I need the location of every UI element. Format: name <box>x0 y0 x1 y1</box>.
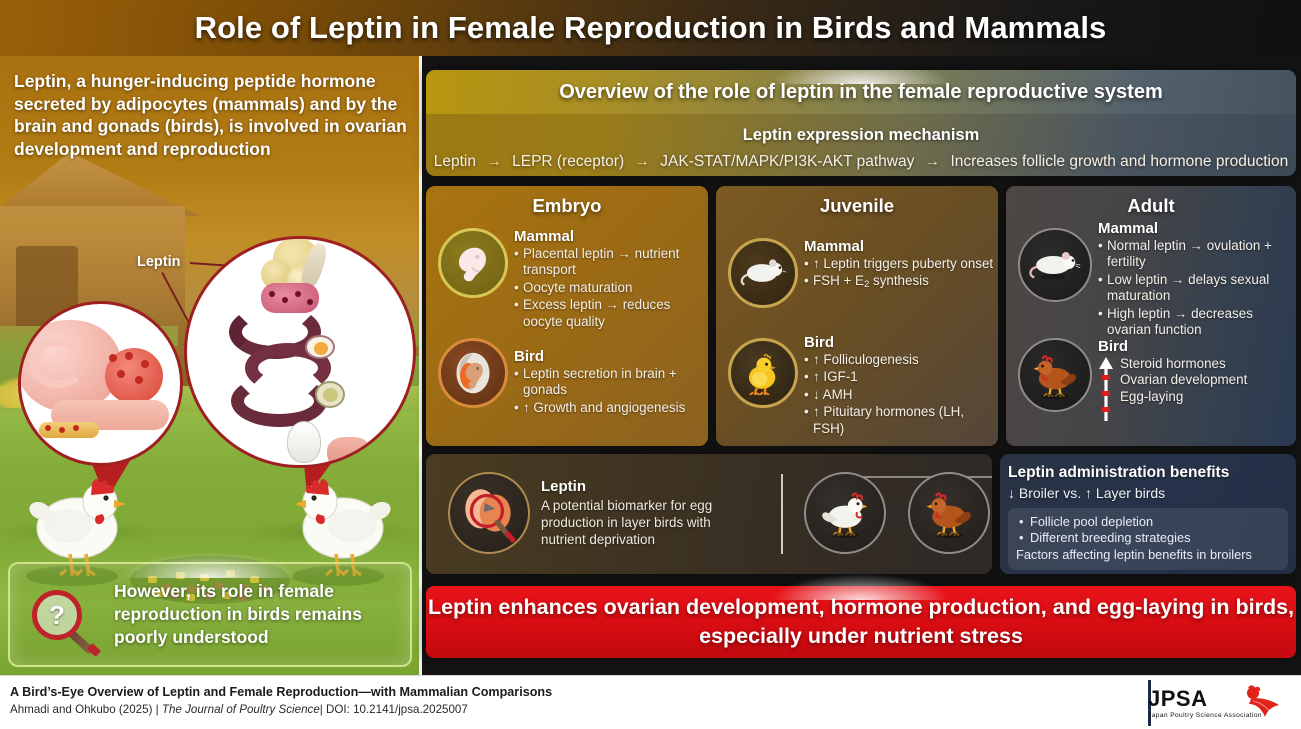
brown-hen-icon <box>908 472 990 554</box>
egg-stage-yolk <box>305 335 335 359</box>
chain-step-1: Leptin <box>434 153 476 170</box>
up-arrow-icon <box>1098 355 1114 421</box>
uterus-horn-shape <box>29 338 87 388</box>
white-hen-illustration <box>22 456 132 576</box>
chain-step-3: JAK-STAT/MAPK/PI3K-AKT pathway <box>660 153 914 170</box>
stage-panel-embryo: Embryo Mammal •Placental leptin → nutrie… <box>426 186 708 446</box>
chain-arrow-icon: → <box>480 153 508 170</box>
follicle-dot <box>45 425 51 431</box>
chain-step-2: LEPR (receptor) <box>512 153 624 170</box>
overview-heading: Overview of the role of leptin in the fe… <box>559 81 1163 104</box>
overview-section: Overview of the role of leptin in the fe… <box>426 70 1296 176</box>
leptin-dot <box>269 291 275 297</box>
mammal-reproductive-illustration <box>18 301 183 466</box>
mouse-icon <box>728 238 798 308</box>
species-label-mammal: Mammal <box>1098 220 1290 237</box>
left-illustration-panel: Leptin, a hunger-inducing peptide hormon… <box>0 56 420 675</box>
citation-journal: The Journal of Poultry Science <box>162 703 320 716</box>
leptin-callout-label: Leptin <box>137 254 181 270</box>
egg-magnifier-icon <box>448 472 530 554</box>
magnifier-question-icon: ? <box>32 590 96 654</box>
intro-text: Leptin, a hunger-inducing peptide hormon… <box>14 70 412 160</box>
question-mark-glyph: ? <box>32 590 82 640</box>
section-divider <box>781 474 783 554</box>
stage-panel-adult: Adult Mammal •Normal leptin → ovulation … <box>1006 186 1296 446</box>
list-item: •↑ Pituitary hormones (LH, FSH) <box>804 404 994 437</box>
conclusion-banner: Leptin enhances ovarian development, hor… <box>426 586 1296 658</box>
infographic-poster: Role of Leptin in Female Reproduction in… <box>0 0 1301 729</box>
embryo-icon <box>438 228 508 298</box>
juvenile-bird-group: Bird •↑ Folliculogenesis •↑ IGF-1 •↓ AMH… <box>804 334 994 438</box>
admin-note: Factors affecting leptin benefits in bro… <box>1016 547 1280 563</box>
admin-subtitle: ↓ Broiler vs. ↑ Layer birds <box>1008 485 1296 501</box>
biomarker-title: Leptin <box>541 478 586 495</box>
list-item: •Normal leptin → ovulation + fertility <box>1098 238 1290 271</box>
list-item: •Low leptin → delays sexual maturation <box>1098 272 1290 305</box>
jpsa-logo: JPSA Japan Poultry Science Association <box>1148 680 1293 726</box>
chain-arrow-icon: → <box>919 153 947 170</box>
open-question-text: However, its role in female reproduction… <box>114 580 402 649</box>
leptin-administration-section: Leptin administration benefits ↓ Broiler… <box>1000 454 1296 574</box>
follicle-dot <box>59 427 65 433</box>
list-item: •FSH + E2 synthesis <box>804 273 994 293</box>
stage-title-embryo: Embryo <box>426 195 708 217</box>
mechanism-chain: Leptin → LEPR (receptor) → JAK-STAT/MAPK… <box>426 153 1296 171</box>
embryo-mammal-list: •Placental leptin → nutrient transport •… <box>514 246 702 330</box>
adult-bird-increase-list: Steroid hormones Ovarian development Egg… <box>1098 356 1294 405</box>
oviduct-coil <box>231 375 327 427</box>
stage-panel-juvenile: Juvenile Mammal •↑ Leptin triggers puber… <box>716 186 998 446</box>
white-hen-illustration-2 <box>288 456 398 576</box>
list-item: •Different breeding strategies <box>1016 530 1280 546</box>
citation-authors: Ahmadi and Ohkubo (2025) | <box>10 703 162 716</box>
admin-title: Leptin administration benefits <box>1008 464 1296 482</box>
list-item: •↑ Growth and angiogenesis <box>514 400 704 416</box>
list-item: •↑ Leptin triggers puberty onset <box>804 256 994 272</box>
mechanism-title: Leptin expression mechanism <box>426 126 1296 145</box>
embryo-bird-group: Bird •Leptin secretion in brain + gonads… <box>514 348 704 417</box>
adult-mammal-list: •Normal leptin → ovulation + fertility •… <box>1098 238 1290 338</box>
leptin-dot <box>282 297 288 303</box>
page-title: Role of Leptin in Female Reproduction in… <box>195 10 1107 46</box>
follicle-dot <box>135 376 143 384</box>
stage-title-adult: Adult <box>1006 195 1296 217</box>
adult-bird-group: Bird Steroid hormones Ovarian developmen… <box>1098 338 1294 405</box>
follicle-dot <box>109 354 117 362</box>
article-title: A Bird’s-Eye Overview of Leptin and Fema… <box>10 685 552 699</box>
species-label-bird: Bird <box>1098 338 1294 355</box>
list-item: •↑ IGF-1 <box>804 369 994 385</box>
list-item: •Leptin secretion in brain + gonads <box>514 366 704 399</box>
list-item: •↑ Folliculogenesis <box>804 352 994 368</box>
chain-arrow-icon: → <box>628 153 656 170</box>
list-item: Steroid hormones <box>1120 356 1294 372</box>
species-label-bird: Bird <box>804 334 994 351</box>
list-item: Egg-laying <box>1120 389 1294 405</box>
embryo-bird-list: •Leptin secretion in brain + gonads •↑ G… <box>514 366 704 416</box>
follicle-dot <box>117 370 125 378</box>
species-label-mammal: Mammal <box>514 228 702 245</box>
embryo-mammal-group: Mammal •Placental leptin → nutrient tran… <box>514 228 702 331</box>
right-content-panel: Overview of the role of leptin in the fe… <box>422 56 1301 675</box>
open-question-callout: ? However, its role in female reproducti… <box>8 562 412 667</box>
hen-brown-icon <box>1018 338 1092 412</box>
logo-text: JPSA <box>1148 688 1207 710</box>
follicle-dot <box>141 360 149 368</box>
list-item: •↓ AMH <box>804 387 994 403</box>
stage-title-juvenile: Juvenile <box>716 195 998 217</box>
chain-step-4: Increases follicle growth and hormone pr… <box>950 153 1288 170</box>
list-item: •Oocyte maturation <box>514 280 702 296</box>
admin-factors-box: •Follicle pool depletion •Different bree… <box>1008 508 1288 570</box>
poster-title-bar: Role of Leptin in Female Reproduction in… <box>0 0 1301 56</box>
chick-icon <box>728 338 798 408</box>
biomarker-description: A potential biomarker for egg production… <box>541 497 756 548</box>
species-label-bird: Bird <box>514 348 704 365</box>
overview-header: Overview of the role of leptin in the fe… <box>426 70 1296 114</box>
avian-reproductive-illustration <box>184 236 416 468</box>
follicle-dot <box>73 425 79 431</box>
species-label-mammal: Mammal <box>804 238 994 255</box>
jpsa-bird-icon <box>1239 685 1281 719</box>
juvenile-mammal-group: Mammal •↑ Leptin triggers puberty onset … <box>804 238 994 295</box>
bird-embryo-icon <box>438 338 508 408</box>
poster-footer: A Bird’s-Eye Overview of Leptin and Fema… <box>0 675 1301 729</box>
list-item: •Placental leptin → nutrient transport <box>514 246 702 279</box>
leptin-dot <box>295 291 301 297</box>
list-item: •Excess leptin → reduces oocyte quality <box>514 297 702 330</box>
egg-stage-albumen <box>315 381 345 408</box>
citation-doi: | DOI: 10.2141/jpsa.2025007 <box>320 703 468 716</box>
list-item: •Follicle pool depletion <box>1016 514 1280 530</box>
juvenile-mammal-list: •↑ Leptin triggers puberty onset •FSH + … <box>804 256 994 294</box>
list-item: Ovarian development <box>1120 372 1294 388</box>
biomarker-section: Leptin A potential biomarker for egg pro… <box>426 454 992 574</box>
admin-factor-list: •Follicle pool depletion •Different bree… <box>1016 514 1280 546</box>
white-hen-icon <box>804 472 886 554</box>
conclusion-text: Leptin enhances ovarian development, hor… <box>426 593 1296 651</box>
juvenile-bird-list: •↑ Folliculogenesis •↑ IGF-1 •↓ AMH •↑ P… <box>804 352 994 437</box>
article-citation: Ahmadi and Ohkubo (2025) | The Journal o… <box>10 703 468 716</box>
rat-icon <box>1018 228 1092 302</box>
leptin-dot <box>307 299 313 305</box>
adult-mammal-group: Mammal •Normal leptin → ovulation + fert… <box>1098 220 1290 339</box>
follicle-dot <box>125 352 133 360</box>
list-item: •High leptin → decreases ovarian functio… <box>1098 306 1290 339</box>
